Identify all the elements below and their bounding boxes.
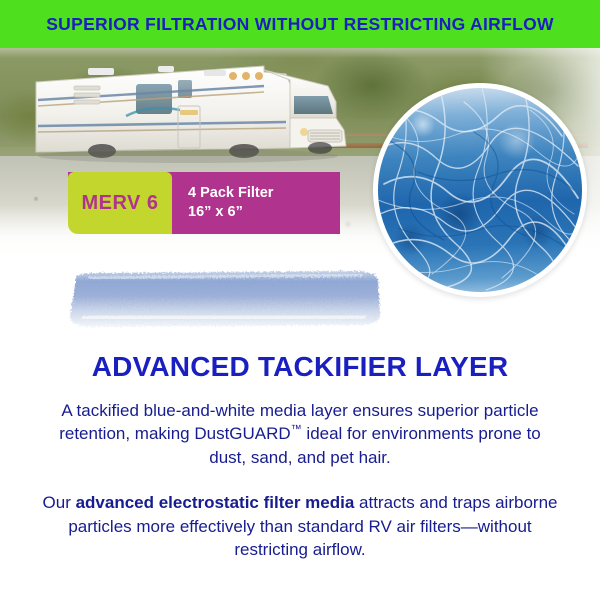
paragraph-two: Our advanced electrostatic filter media … xyxy=(0,491,600,561)
merv-badge: MERV 6 4 Pack Filter 16” x 6” xyxy=(68,172,340,234)
top-banner: SUPERIOR FILTRATION WITHOUT RESTRICTING … xyxy=(0,0,600,48)
filter-media-closeup xyxy=(373,83,587,297)
fiber-strands xyxy=(378,88,582,292)
pack-count-label: 4 Pack Filter xyxy=(188,184,340,203)
badge-info-block: 4 Pack Filter 16” x 6” xyxy=(172,172,340,234)
trademark-symbol: ™ xyxy=(291,424,302,436)
filter-size-label: 16” x 6” xyxy=(188,203,340,222)
closeup-media-texture xyxy=(378,88,582,292)
banner-headline: SUPERIOR FILTRATION WITHOUT RESTRICTING … xyxy=(46,14,554,35)
page-title: ADVANCED TACKIFIER LAYER xyxy=(0,352,600,383)
paragraph-two-part1: Our xyxy=(43,493,76,512)
merv-rating-block: MERV 6 xyxy=(68,172,172,234)
paragraph-one: A tackified blue-and-white media layer e… xyxy=(0,399,600,469)
filter-pad-product-image xyxy=(62,268,384,330)
text-content-block: ADVANCED TACKIFIER LAYER A tackified blu… xyxy=(0,352,600,562)
rv-motorhome-icon xyxy=(28,56,358,176)
infographic-page: SUPERIOR FILTRATION WITHOUT RESTRICTING … xyxy=(0,0,600,600)
merv-rating-label: MERV 6 xyxy=(81,192,158,215)
paragraph-two-emphasis: advanced electrostatic filter media xyxy=(76,493,355,512)
